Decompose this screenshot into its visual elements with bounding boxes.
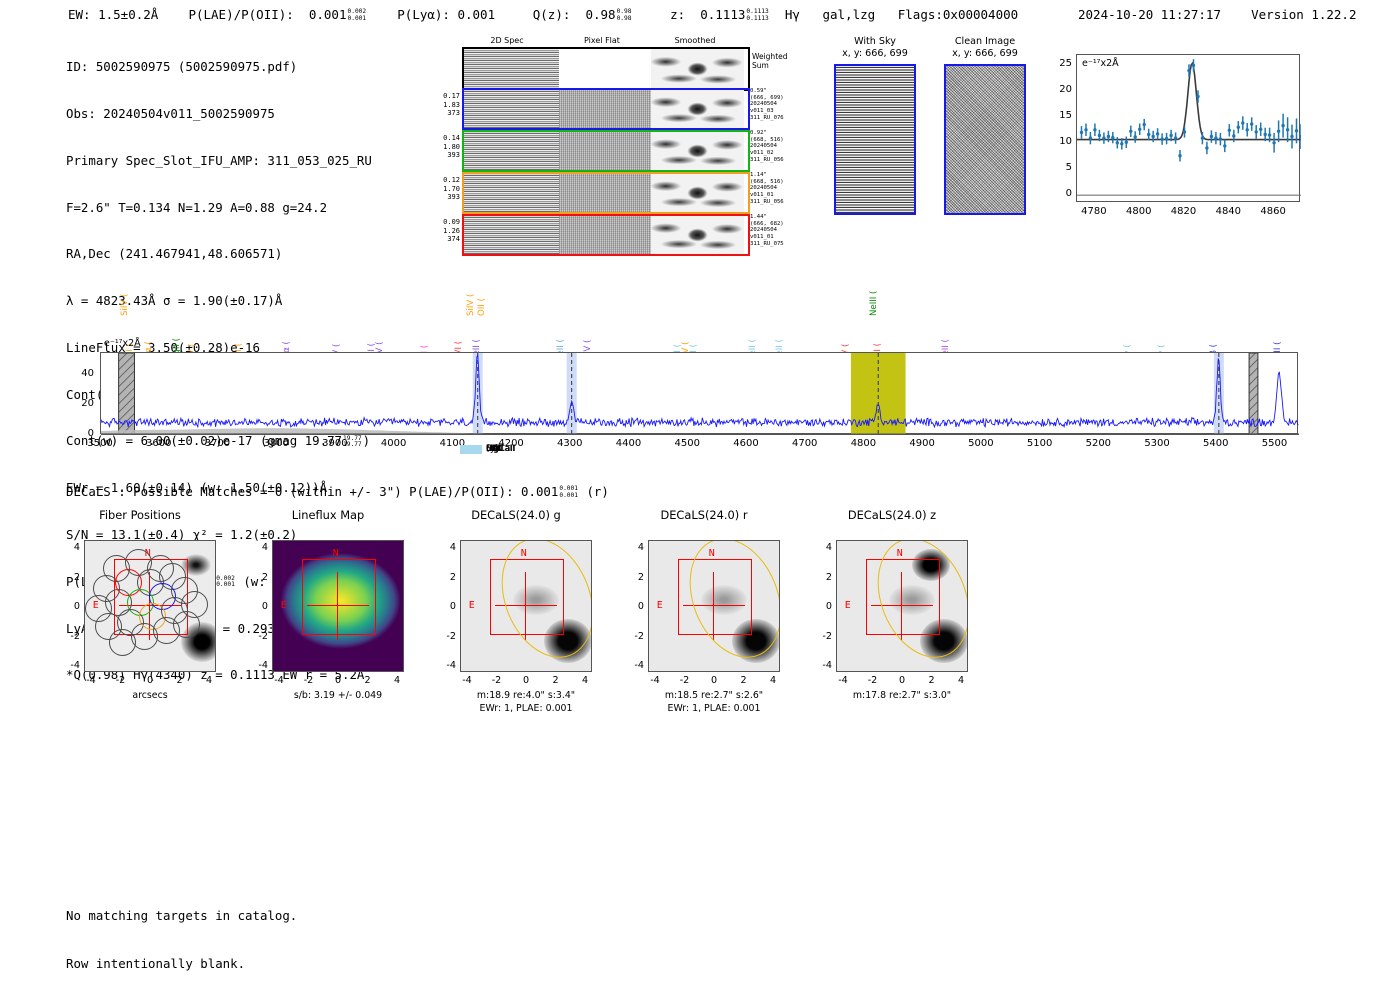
spec2d-tile-pixelflat [559,49,651,89]
panel-x-tick: 4 [761,675,785,686]
info-radec: RA,Dec (241.467941,48.606571) [66,246,372,262]
table-row[interactable] [462,88,750,130]
header-plae-lo: 0.001 [348,16,367,22]
y-tick-label: 10 [1048,136,1072,147]
header-plae-value: 0.001 [309,7,347,22]
y-tick-label: 0 [1048,188,1072,199]
panel-y-tick: 4 [814,542,832,553]
panel-y-tick: 4 [62,542,80,553]
panel-y-tick: 2 [62,572,80,583]
list-item: 0.59" (666, 699) 20240504 v011_03 311_RU… [750,88,784,122]
panel-y-tick: -4 [250,660,268,671]
zoom-plot-axes [1076,54,1300,202]
panel-title: Lineflux Map [234,508,422,522]
y-tick-label: 20 [68,398,94,409]
info-specslot: Primary Spec_Slot_IFU_AMP: 311_053_025_R… [66,153,372,169]
footer-note: No matching targets in catalog. Row inte… [66,876,297,988]
panel-image-viridis[interactable]: NE [272,540,404,672]
panel-y-tick: -2 [62,631,80,642]
decals-header: DECaLS : Possible Matches = 0 (within +/… [66,484,609,499]
decals-panel-3[interactable]: DECaLS(24.0) rNE-4-4-2-2002244m:18.5 re:… [610,508,798,728]
panel-y-tick: 4 [250,542,268,553]
x-tick-label: 4780 [1078,206,1110,217]
decals-header-text: DECaLS : Possible Matches = 0 (within +/… [66,484,558,499]
header-flags: Flags:0x00004000 [898,7,1018,22]
spectrum-axes [100,352,1298,434]
header-z-lo: 0.1113 [746,16,768,22]
header-z-value: 0.1113 [700,7,745,22]
panel-x-tick: 4 [949,675,973,686]
panel-x-tick: -2 [109,675,133,686]
panel-x-tick: -4 [79,675,103,686]
panel-y-tick: 0 [626,601,644,612]
panel-y-tick: -4 [626,660,644,671]
panel-x-tick: 0 [702,675,726,686]
spec2d-tile-smoothed [651,49,744,89]
x-tick-label: 4500 [667,438,707,449]
compass-east: E [845,600,851,611]
panel-x-tick: -2 [485,675,509,686]
header-ew: EW: 1.5±0.2Å [68,7,158,22]
x-tick-label: 4400 [609,438,649,449]
table-row-metrics: 0.09 1.26 374 [432,218,460,244]
panel-y-tick: 0 [62,601,80,612]
compass-east: E [281,600,287,611]
spec2d-tile-smoothed [651,90,744,128]
cutout-title: Clean Image [930,36,1040,48]
panel-y-tick: -4 [62,660,80,671]
spec2d-fiber-rows: 0.17 1.83 373 0.59" (666, 699) 20240504 … [430,88,810,258]
spec2d-tile-2dspec [464,49,559,89]
panel-subtitle-2: EWr: 1, PLAE: 0.001 [431,703,621,714]
spec2d-tile-2dspec [464,216,559,254]
spec2d-tile-pixelflat [559,216,651,254]
legend-swatch [460,445,482,454]
panel-x-tick: 2 [544,675,568,686]
cutout-image-clean[interactable] [944,64,1026,215]
panel-title: DECaLS(24.0) r [610,508,798,522]
spec2d-tile-pixelflat [559,132,651,170]
spectrum-unit-label: e⁻¹⁷x2Å [104,338,141,349]
panel-x-tick: 2 [356,675,380,686]
panel-y-tick: -2 [250,631,268,642]
x-tick-label: 4800 [1123,206,1155,217]
info-wavelength: λ = 4823.43Å σ = 1.90(±0.17)Å [66,293,372,309]
y-tick-label: 40 [68,368,94,379]
list-item: 0.92" (668, 516) 20240504 v011_02 311_RU… [750,130,784,164]
panel-x-tick: 2 [168,675,192,686]
panel-x-tick: 0 [514,675,538,686]
spec2d-col-title-smoothed: Smoothed [650,36,740,45]
x-tick-label: 4900 [902,438,942,449]
panel-image-gray[interactable]: NE [460,540,592,672]
table-row-metrics: 0.17 1.83 373 [432,92,460,118]
panel-subtitle-1: s/b: 3.19 +/- 0.049 [243,690,433,701]
panel-y-tick: 0 [438,601,456,612]
panel-y-tick: 0 [250,601,268,612]
x-tick-label: 5100 [1020,438,1060,449]
footer-line-2: Row intentionally blank. [66,956,297,972]
spec2d-tile-pixelflat [559,90,651,128]
cutout-image-with-sky[interactable] [834,64,916,215]
panel-x-tick: 0 [326,675,350,686]
panel-x-tick: 0 [138,675,162,686]
panel-title: Fiber Positions [46,508,234,522]
x-tick-label: 3900 [315,438,355,449]
spec2d-weighted-sum-label: WeightedSum [752,52,788,70]
decals-panel-1[interactable]: Lineflux MapNE-4-4-2-2002244s/b: 3.19 +/… [234,508,422,728]
panel-y-tick: 0 [814,601,832,612]
panel-y-tick: -2 [626,631,644,642]
legend-label: (H)CaII [486,444,516,454]
x-tick-label: 3800 [256,438,296,449]
x-tick-label: 5400 [1196,438,1236,449]
info-id: ID: 5002590975 (5002590975.pdf) [66,59,372,75]
header-qz-label: Q(z): [533,7,571,22]
zoom-plot-unit-label: e⁻¹⁷x2Å [1082,58,1119,69]
panel-subtitle-1: m:17.8 re:2.7" s:3.0" [807,690,997,701]
cutout-subtitle: x, y: 666, 699 [820,48,930,60]
x-tick-label: 5200 [1078,438,1118,449]
panel-x-tick: 4 [197,675,221,686]
decals-panel-0[interactable]: Fiber PositionsNE-4-4-2-2002244arcsecs [46,508,234,728]
table-row-metrics: 0.14 1.80 393 [432,134,460,160]
x-tick-label: 4860 [1257,206,1289,217]
panel-x-tick: -4 [831,675,855,686]
spec2d-tile-smoothed [651,132,744,170]
table-row[interactable] [462,130,750,172]
spec2d-col-title-2dspec: 2D Spec [462,36,552,45]
panel-y-tick: 2 [438,572,456,583]
panel-x-tick: -4 [267,675,291,686]
compass-north: N [333,548,339,559]
fiber-circle[interactable] [173,611,200,638]
panel-x-tick: 2 [732,675,756,686]
panel-y-tick: 4 [438,542,456,553]
x-tick-label: 4300 [550,438,590,449]
full-spectrum-plot[interactable]: SiIV (SiII (Lyα (MgII (NV (SiII (Lyα (NV… [100,352,1298,434]
panel-x-tick: 4 [573,675,597,686]
header-timestamp-version: 2024-10-20 11:27:17 Version 1.22.2 [1078,7,1356,22]
spec2d-tile-2dspec [464,90,559,128]
emission-line-label: NeIII ( [869,291,879,316]
panel-title: DECaLS(24.0) z [798,508,986,522]
x-tick-label: 5500 [1255,438,1295,449]
legend-item: (H)CaII [460,444,516,454]
list-item: 1.14" (668, 516) 20240504 v011_01 311_RU… [750,172,784,206]
table-row[interactable] [462,172,750,214]
spec2d-tile-smoothed [651,174,744,212]
info-seeing: F=2.6" T=0.134 N=1.29 A=0.88 g=24.2 [66,200,372,216]
zoomed-line-plot[interactable]: e⁻¹⁷x2Å 0510152025 47804800482048404860 [1040,48,1305,213]
header-qz-lo: 0.98 [617,16,632,22]
header-summary-line: EW: 1.5±0.2Å P(LAE)/P(OII): 0.0010.0020.… [68,7,1018,22]
panel-x-tick: -4 [643,675,667,686]
panel-image-gray[interactable]: NE [648,540,780,672]
panel-y-tick: -4 [814,660,832,671]
decals-panel-2[interactable]: DECaLS(24.0) gNE-4-4-2-2002244m:18.9 re:… [422,508,610,728]
decals-panel-4[interactable]: DECaLS(24.0) zNE-4-4-2-2002244m:17.8 re:… [798,508,986,728]
cutout-title: With Sky [820,36,930,48]
panel-y-tick: 2 [626,572,644,583]
spec2d-col-title-pixelflat: Pixel Flat [557,36,647,45]
x-tick-label: 4800 [843,438,883,449]
y-tick-label: 5 [1048,162,1072,173]
spec2d-tile-pixelflat [559,174,651,212]
x-tick-label: 4820 [1168,206,1200,217]
x-tick-label: 3600 [139,438,179,449]
y-tick-label: 15 [1048,110,1072,121]
panel-title: DECaLS(24.0) g [422,508,610,522]
table-row-metrics: 0.12 1.70 393 [432,176,460,202]
panel-y-tick: 4 [626,542,644,553]
list-item: 1.44" (666, 682) 20240504 v011_01 311_RU… [750,214,784,248]
panel-y-tick: -2 [438,631,456,642]
panel-subtitle-2: EWr: 1, PLAE: 0.001 [619,703,809,714]
footer-line-1: No matching targets in catalog. [66,908,297,924]
header-version: Version 1.22.2 [1251,7,1356,22]
table-row[interactable] [462,214,750,256]
panel-y-tick: 2 [814,572,832,583]
panel-subtitle-1: m:18.9 re:4.0" s:3.4" [431,690,621,701]
x-tick-label: 3700 [197,438,237,449]
header-classification: gal,lzg [822,7,875,22]
panel-y-tick: -2 [814,631,832,642]
panel-x-tick: -4 [455,675,479,686]
header-datetime: 2024-10-20 11:27:17 [1078,7,1221,22]
cutout-clean-image[interactable]: Clean Image x, y: 666, 699 [930,36,1040,215]
emission-line-label: SiIV ( [120,294,130,316]
crosshair-vertical [337,572,338,640]
spec2d-row-weighted-sum[interactable] [462,47,750,91]
compass-east: E [469,600,475,611]
panel-y-tick: -4 [438,660,456,671]
x-tick-label: 4000 [374,438,414,449]
panel-image-fibers[interactable]: NE [84,540,216,672]
emission-line-label: SiIV ( [466,294,476,316]
spec2d-tile-2dspec [464,174,559,212]
panel-x-tick: -2 [861,675,885,686]
header-plya: P(Lyα): 0.001 [397,7,495,22]
panel-y-tick: 2 [250,572,268,583]
aperture-box [302,559,376,634]
panel-x-tick: 2 [920,675,944,686]
panel-x-tick: -2 [297,675,321,686]
x-tick-label: 5300 [1137,438,1177,449]
spec2d-tile-smoothed [651,216,744,254]
header-qz-value: 0.98 [585,7,615,22]
y-tick-label: 25 [1048,58,1072,69]
x-tick-label: 5000 [961,438,1001,449]
decals-panel-row: Fiber PositionsNE-4-4-2-2002244arcsecsLi… [46,508,1046,728]
header-z-label: z: [670,7,685,22]
panel-subtitle-1: m:18.5 re:2.7" s:2.6" [619,690,809,701]
panel-x-tick: -2 [673,675,697,686]
header-line-id: Hγ [785,7,800,22]
cutout-with-sky[interactable]: With Sky x, y: 666, 699 [820,36,930,215]
panel-subtitle-1: arcsecs [55,690,245,701]
x-tick-label: 4840 [1212,206,1244,217]
panel-x-tick: 0 [890,675,914,686]
x-tick-label: 4600 [726,438,766,449]
y-tick-label: 20 [1048,84,1072,95]
x-tick-label: 4700 [785,438,825,449]
info-obs: Obs: 20240504v011_5002590975 [66,106,372,122]
compass-east: E [657,600,663,611]
emission-line-label: OII ( [477,298,487,316]
panel-image-gray[interactable]: NE [836,540,968,672]
header-plae-label: P(LAE)/P(OII): [188,7,293,22]
cutout-subtitle: x, y: 666, 699 [930,48,1040,60]
panel-x-tick: 4 [385,675,409,686]
x-tick-label: 3500 [80,438,120,449]
spec2d-tile-2dspec [464,132,559,170]
